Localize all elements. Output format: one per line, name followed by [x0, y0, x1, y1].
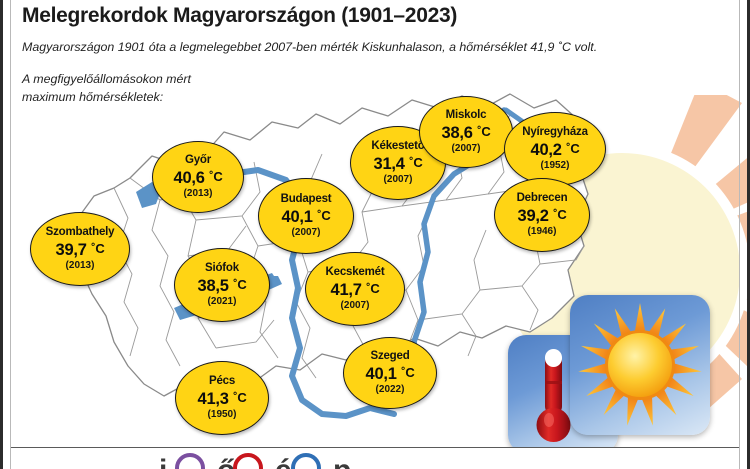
- marker-temperature-unit: ˚C: [317, 208, 330, 223]
- marker-temperature-number: 38,6: [441, 124, 472, 142]
- marker-city-label: Miskolc: [446, 110, 487, 122]
- svg-text:é: é: [275, 454, 292, 469]
- marker-temperature-unit: ˚C: [401, 365, 414, 380]
- marker-győr[interactable]: Győr40,6 ˚C(2013): [152, 141, 244, 213]
- marker-city-label: Szeged: [370, 351, 409, 363]
- marker-year-label: (1950): [208, 410, 237, 420]
- page-title: Melegrekordok Magyarországon (1901–2023): [22, 4, 720, 28]
- marker-temperature-unit: ˚C: [566, 141, 579, 156]
- marker-temperature-unit: ˚C: [91, 241, 104, 256]
- marker-city-label: Szombathely: [46, 227, 115, 239]
- marker-temperature-number: 40,1: [281, 208, 312, 226]
- marker-debrecen[interactable]: Debrecen39,2 ˚C(1946): [494, 178, 590, 252]
- sun-tile[interactable]: [570, 295, 710, 435]
- marker-city-label: Debrecen: [517, 193, 568, 205]
- marker-siófok[interactable]: Siófok38,5 ˚C(2021): [174, 248, 270, 322]
- marker-temperature-value: 40,6 ˚C: [173, 170, 222, 187]
- marker-temperature-value: 38,5 ˚C: [197, 278, 246, 295]
- caption-text: A megfigyelőállomásokon mért maximum hőm…: [22, 71, 720, 107]
- marker-temperature-unit: ˚C: [366, 281, 379, 296]
- marker-temperature-value: 41,7 ˚C: [330, 282, 379, 299]
- marker-temperature-value: 39,2 ˚C: [517, 208, 566, 225]
- infographic-root: Melegrekordok Magyarországon (1901–2023)…: [0, 0, 750, 469]
- marker-city-label: Nyíregyháza: [522, 127, 588, 139]
- marker-temperature-value: 40,1 ˚C: [365, 366, 414, 383]
- marker-year-label: (2021): [208, 297, 237, 307]
- marker-temperature-unit: ˚C: [233, 277, 246, 292]
- marker-temperature-unit: ˚C: [209, 169, 222, 184]
- marker-kecskemét[interactable]: Kecskemét41,7 ˚C(2007): [305, 252, 405, 326]
- svg-text:i: i: [159, 454, 167, 469]
- marker-temperature-unit: ˚C: [409, 155, 422, 170]
- marker-szombathely[interactable]: Szombathely39,7 ˚C(2013): [30, 212, 130, 286]
- marker-budapest[interactable]: Budapest40,1 ˚C(2007): [258, 178, 354, 254]
- marker-temperature-value: 31,4 ˚C: [373, 156, 422, 173]
- marker-temperature-unit: ˚C: [477, 124, 490, 139]
- marker-temperature-number: 41,3: [197, 390, 228, 408]
- marker-city-label: Pécs: [209, 376, 235, 388]
- subtitle-text: Magyarországon 1901 óta a legmelegebbet …: [22, 40, 720, 54]
- marker-year-label: (2013): [184, 189, 213, 199]
- marker-year-label: (2007): [292, 228, 321, 238]
- marker-pécs[interactable]: Pécs41,3 ˚C(1950): [175, 361, 269, 435]
- marker-year-label: (2007): [452, 144, 481, 154]
- marker-temperature-number: 40,2: [530, 141, 561, 159]
- caption-line-2: maximum hőmérsékletek:: [22, 90, 163, 104]
- frame-inner-right: [739, 0, 740, 469]
- marker-temperature-number: 39,2: [517, 207, 548, 225]
- sun-icon: [578, 303, 702, 427]
- marker-temperature-number: 40,6: [173, 169, 204, 187]
- marker-temperature-number: 39,7: [55, 241, 86, 259]
- marker-temperature-value: 41,3 ˚C: [197, 391, 246, 408]
- marker-year-label: (1946): [528, 227, 557, 237]
- marker-year-label: (2013): [66, 261, 95, 271]
- marker-year-label: (2007): [341, 301, 370, 311]
- marker-szeged[interactable]: Szeged40,1 ˚C(2022): [343, 337, 437, 409]
- marker-year-label: (1952): [541, 161, 570, 171]
- marker-temperature-number: 40,1: [365, 365, 396, 383]
- marker-city-label: Budapest: [281, 194, 332, 206]
- header: Melegrekordok Magyarországon (1901–2023)…: [22, 0, 720, 107]
- frame-inner-left: [10, 0, 11, 469]
- marker-temperature-number: 38,5: [197, 277, 228, 295]
- marker-city-label: Kékestető: [371, 141, 424, 153]
- marker-temperature-value: 40,1 ˚C: [281, 209, 330, 226]
- marker-temperature-unit: ˚C: [233, 390, 246, 405]
- footer-logo-strip: i ő é p: [10, 447, 740, 469]
- idokep-logo[interactable]: i ő é p: [157, 452, 367, 469]
- marker-city-label: Siófok: [205, 263, 239, 275]
- svg-text:ő: ő: [217, 454, 235, 469]
- marker-temperature-value: 38,6 ˚C: [441, 125, 490, 142]
- marker-year-label: (2007): [384, 175, 413, 185]
- thermometer-icon: [537, 349, 571, 442]
- marker-temperature-number: 41,7: [330, 281, 361, 299]
- weather-widget: °C: [508, 295, 718, 455]
- frame-rail-left: [0, 0, 3, 469]
- marker-year-label: (2022): [376, 385, 405, 395]
- marker-temperature-value: 39,7 ˚C: [55, 242, 104, 259]
- marker-city-label: Kecskemét: [326, 267, 385, 279]
- svg-text:p: p: [333, 454, 351, 469]
- marker-temperature-number: 31,4: [373, 155, 404, 173]
- marker-temperature-unit: ˚C: [553, 207, 566, 222]
- marker-nyíregyháza[interactable]: Nyíregyháza40,2 ˚C(1952): [504, 112, 606, 186]
- marker-temperature-value: 40,2 ˚C: [530, 142, 579, 159]
- marker-city-label: Győr: [185, 155, 211, 167]
- caption-line-1: A megfigyelőállomásokon mért: [22, 72, 191, 86]
